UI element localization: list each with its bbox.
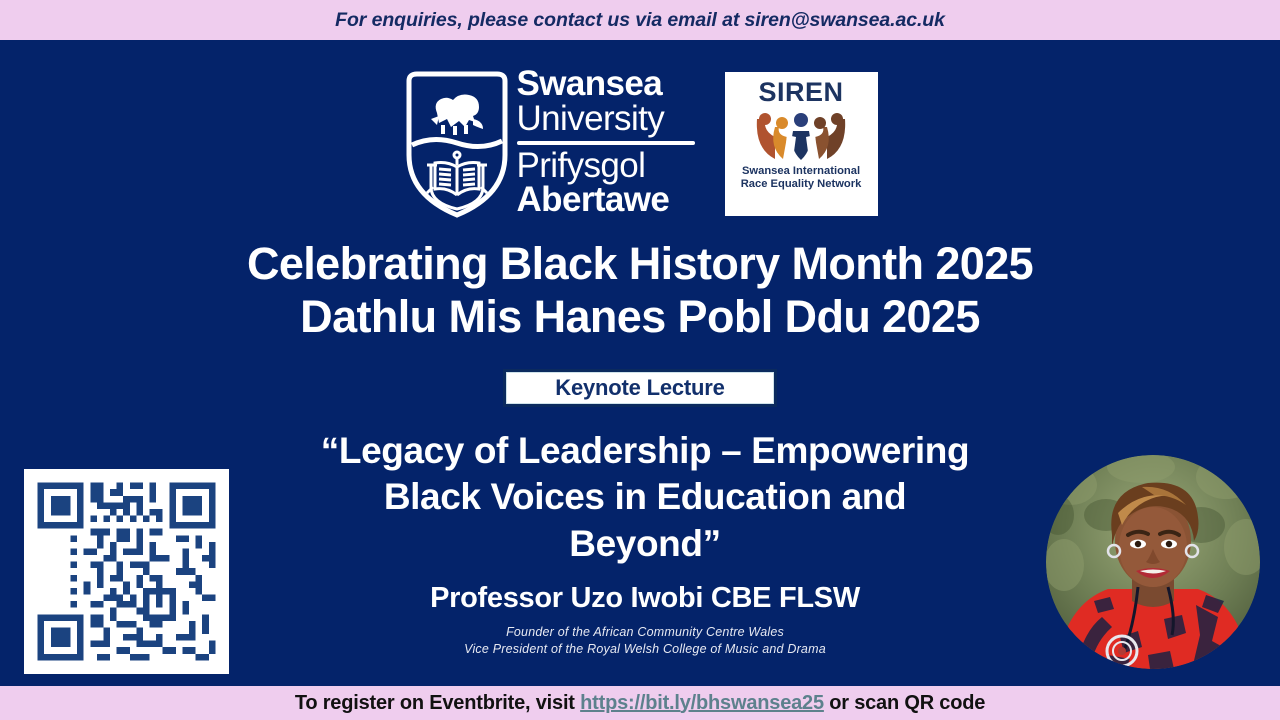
speaker-name: Professor Uzo Iwobi CBE FLSW	[240, 582, 1050, 615]
speaker-roles: Founder of the African Community Centre …	[240, 624, 1050, 658]
enquiry-banner-text: For enquiries, please contact us via ema…	[335, 9, 945, 32]
register-suffix: or scan QR code	[824, 692, 985, 714]
swansea-word-line2: University	[517, 102, 695, 136]
register-banner: To register on Eventbrite, visit https:/…	[0, 686, 1280, 720]
swansea-divider	[517, 141, 695, 145]
siren-people-arc-icon	[753, 109, 849, 161]
speaker-role-line1: Founder of the African Community Centre …	[240, 624, 1050, 641]
qr-code[interactable]	[24, 469, 229, 674]
poster-root: For enquiries, please contact us via ema…	[0, 0, 1280, 720]
lecture-title-line2: Black Voices in Education and	[240, 474, 1050, 520]
swansea-word-line3: Prifysgol	[517, 149, 695, 183]
page-title: Celebrating Black History Month 2025 Dat…	[0, 238, 1280, 343]
siren-caption: Swansea International Race Equality Netw…	[741, 165, 862, 191]
swansea-wordmark: Swansea University Prifysgol Abertawe	[517, 67, 695, 219]
siren-caption-line1: Swansea International	[741, 165, 862, 178]
siren-acronym: SIREN	[758, 79, 843, 106]
keynote-badge-inner: Keynote Lecture	[506, 372, 774, 404]
swansea-shield-icon	[403, 69, 511, 219]
speaker-portrait	[1046, 455, 1260, 669]
register-prefix: To register on Eventbrite, visit	[295, 692, 580, 714]
logo-row: Swansea University Prifysgol Abertawe SI…	[0, 66, 1280, 221]
siren-caption-line2: Race Equality Network	[741, 178, 862, 191]
headline-welsh: Dathlu Mis Hanes Pobl Ddu 2025	[0, 291, 1280, 344]
swansea-university-logo: Swansea University Prifysgol Abertawe	[403, 69, 695, 219]
enquiry-banner: For enquiries, please contact us via ema…	[0, 0, 1280, 40]
lecture-title-line3: Beyond”	[240, 521, 1050, 567]
lecture-title-line1: “Legacy of Leadership – Empowering	[240, 428, 1050, 474]
keynote-badge-label: Keynote Lecture	[555, 375, 724, 401]
speaker-role-line2: Vice President of the Royal Welsh Colleg…	[240, 641, 1050, 658]
register-banner-text: To register on Eventbrite, visit https:/…	[295, 692, 985, 715]
keynote-lecture-badge: Keynote Lecture	[503, 369, 777, 407]
eventbrite-link[interactable]: https://bit.ly/bhswansea25	[580, 692, 824, 714]
headline-english: Celebrating Black History Month 2025	[0, 238, 1280, 291]
siren-logo: SIREN	[725, 72, 878, 216]
swansea-word-line1: Swansea	[517, 67, 695, 101]
lecture-title: “Legacy of Leadership – Empowering Black…	[240, 428, 1050, 567]
swansea-word-line4: Abertawe	[517, 183, 695, 217]
